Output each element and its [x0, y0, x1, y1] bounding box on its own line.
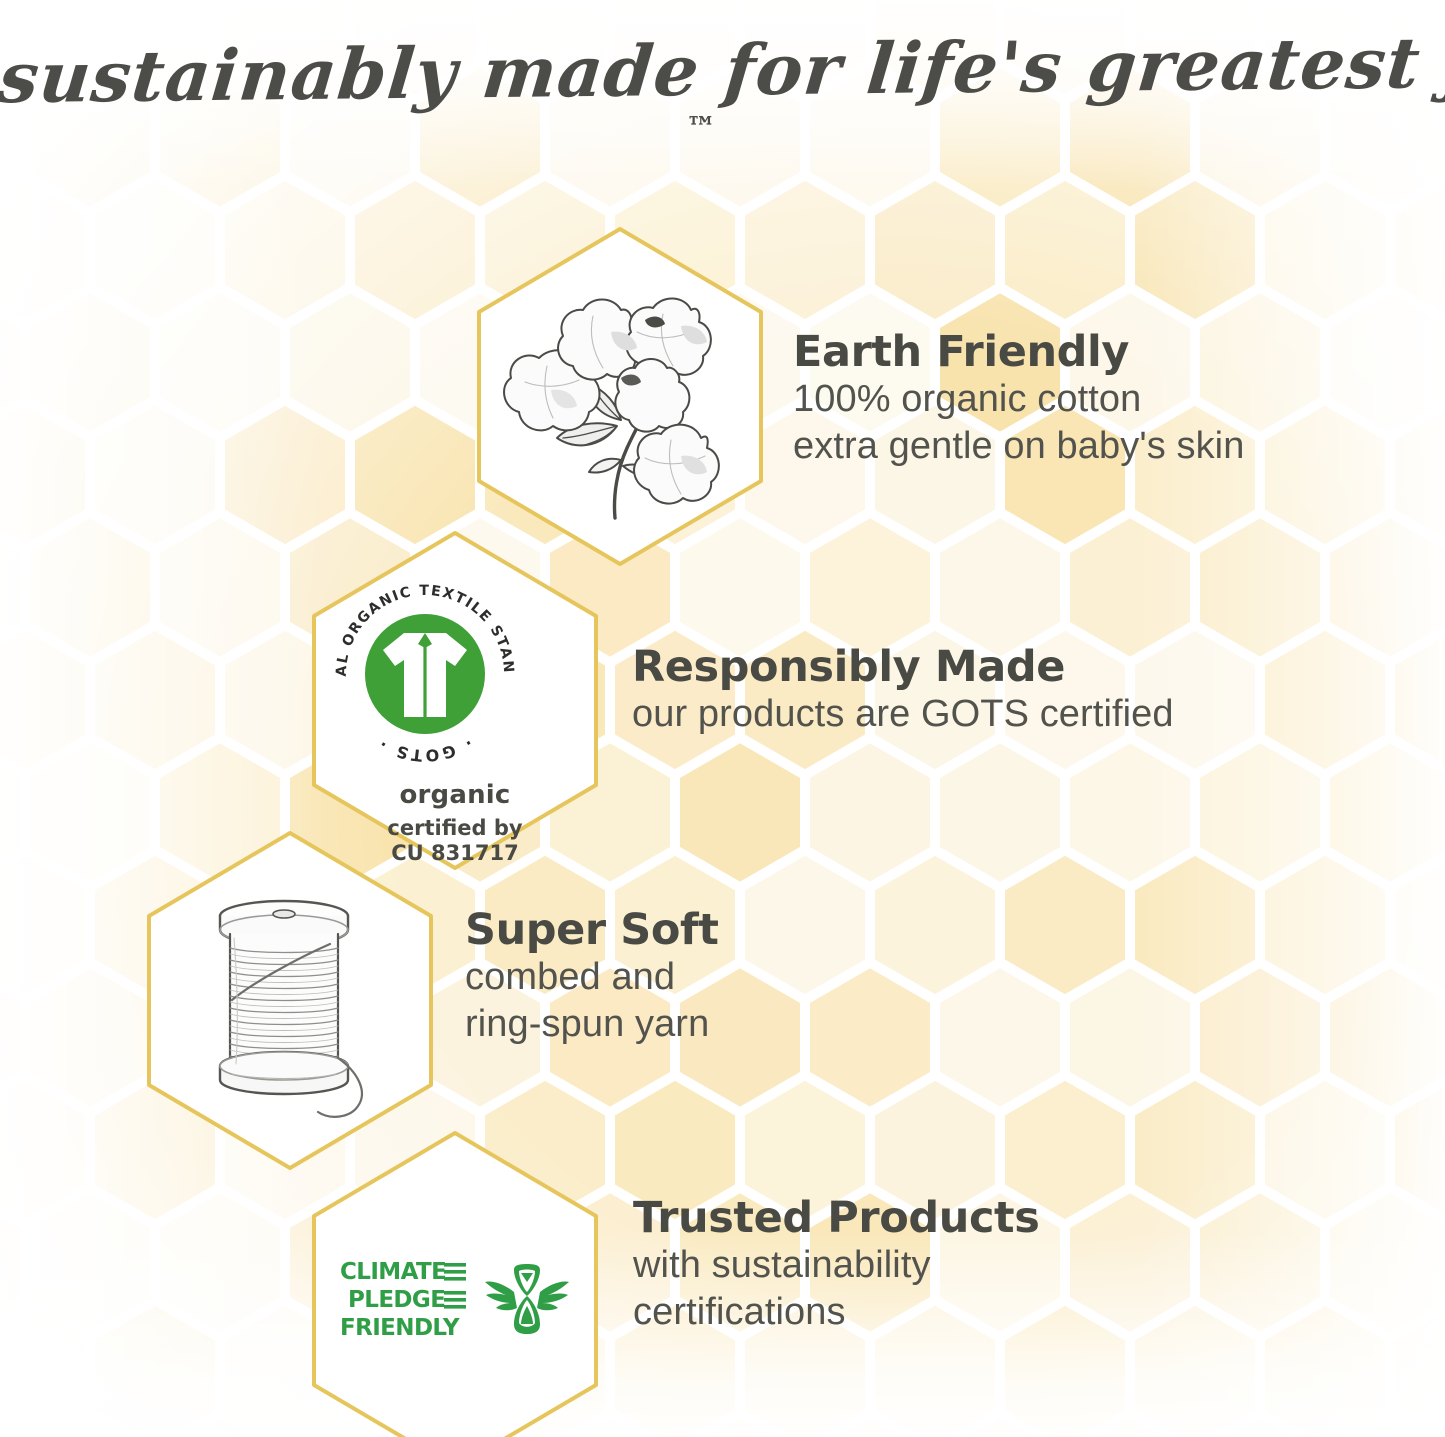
cpf-line-3: FRIENDLY: [340, 1315, 460, 1341]
feature-card-super-soft[interactable]: [140, 828, 440, 1173]
feature-line: with sustainability: [633, 1242, 1039, 1290]
infographic-canvas: sustainably made for life's greatest joy…: [0, 0, 1445, 1437]
feature-copy-responsibly-made: Responsibly Made our products are GOTS c…: [632, 645, 1174, 738]
feature-title: Earth Friendly: [793, 330, 1244, 376]
climate-pledge-friendly-wordmark: CLIMATE PLEDGE FRIENDLY: [340, 1257, 468, 1345]
feature-line: 100% organic cotton: [793, 376, 1244, 424]
winged-hourglass-icon: [484, 1262, 570, 1340]
cotton-boll-sketch-icon: [495, 270, 745, 530]
feature-title: Super Soft: [465, 908, 718, 954]
feature-title: Trusted Products: [633, 1196, 1039, 1242]
gots-seal-wrap: GLOBAL ORGANIC TEXTILE STANDARD · GOTS ·…: [325, 574, 585, 866]
feature-copy-trusted-products: Trusted Products with sustainability cer…: [633, 1196, 1039, 1337]
feature-card-trusted-products[interactable]: CLIMATE PLEDGE FRIENDLY: [305, 1128, 605, 1437]
trademark-symbol: ™: [686, 111, 716, 146]
feature-card-responsibly-made[interactable]: GLOBAL ORGANIC TEXTILE STANDARD · GOTS ·…: [305, 528, 605, 873]
feature-line: ring-spun yarn: [465, 1001, 718, 1049]
climate-pledge-friendly-logo: CLIMATE PLEDGE FRIENDLY: [340, 1257, 570, 1345]
headline: sustainably made for life's greatest joy…: [0, 28, 1400, 149]
cpf-line-1: CLIMATE: [340, 1259, 446, 1285]
feature-copy-earth-friendly: Earth Friendly 100% organic cotton extra…: [793, 330, 1244, 471]
headline-text: sustainably made for life's greatest joy: [0, 20, 1445, 119]
cotton-illustration-wrap: [470, 224, 770, 569]
gots-organic-seal-icon: GLOBAL ORGANIC TEXTILE STANDARD · GOTS ·: [325, 574, 525, 774]
feature-line: extra gentle on baby's skin: [793, 423, 1244, 471]
feature-line: certifications: [633, 1289, 1039, 1337]
thread-spool-sketch-icon: [180, 876, 400, 1126]
feature-title: Responsibly Made: [632, 645, 1174, 691]
cpf-line-2: PLEDGE: [348, 1287, 445, 1313]
gots-label-organic: organic: [325, 780, 585, 810]
feature-card-earth-friendly[interactable]: [470, 224, 770, 569]
feature-line: our products are GOTS certified: [632, 691, 1174, 739]
spool-illustration-wrap: [140, 828, 440, 1173]
svg-text:· GOTS ·: · GOTS ·: [374, 733, 476, 765]
feature-line: combed and: [465, 954, 718, 1002]
feature-copy-super-soft: Super Soft combed and ring-spun yarn: [465, 908, 718, 1049]
